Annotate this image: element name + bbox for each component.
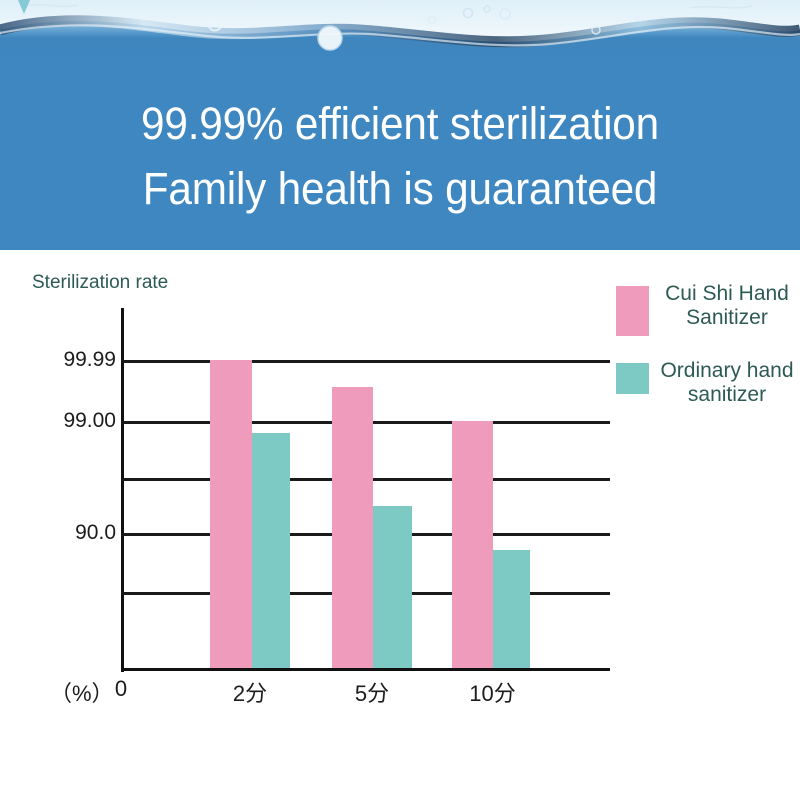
bar-ordinary-10min[interactable] [493, 550, 530, 670]
x-tick-label-2min: 2分 [210, 676, 290, 708]
x-tick-origin: 0 [106, 676, 136, 702]
sterilization-rate-chart: Sterilization rate 99.99 99.00 90.0 [0, 250, 800, 800]
x-axis-line [121, 668, 610, 671]
legend-label-ordinary-line1: Ordinary hand [660, 359, 793, 382]
bar-cui-shi-2min[interactable] [210, 360, 252, 670]
x-tick-label-10min: 10分 [450, 676, 535, 708]
chart-legend: Cui Shi Hand Sanitizer Ordinary hand san… [616, 282, 800, 434]
legend-swatch-teal [616, 363, 649, 394]
legend-label-cui-shi: Cui Shi Hand Sanitizer [658, 282, 796, 329]
hero-banner: 99.99% efficient sterilization Family he… [0, 0, 800, 250]
legend-label-ordinary: Ordinary hand sanitizer [658, 359, 796, 406]
water-wave-graphic [0, 0, 800, 62]
legend-item-ordinary[interactable]: Ordinary hand sanitizer [616, 359, 800, 406]
legend-swatch-pink [616, 286, 649, 336]
legend-item-cui-shi[interactable]: Cui Shi Hand Sanitizer [616, 282, 800, 329]
legend-label-cui-shi-line1: Cui Shi Hand [665, 282, 789, 305]
legend-label-ordinary-line2: sanitizer [688, 383, 766, 406]
bar-cui-shi-10min[interactable] [452, 421, 493, 670]
product-infographic-page: 99.99% efficient sterilization Family he… [0, 0, 800, 800]
x-axis-unit-label: （%） [50, 676, 114, 708]
bar-ordinary-2min[interactable] [252, 433, 290, 670]
headline-secondary: Family health is guaranteed [24, 163, 776, 215]
bar-cui-shi-5min[interactable] [332, 387, 373, 670]
water-surface-image [0, 0, 800, 62]
x-tick-label-5min: 5分 [332, 676, 412, 708]
bar-ordinary-5min[interactable] [373, 506, 412, 670]
headline-primary: 99.99% efficient sterilization [24, 98, 776, 150]
legend-label-cui-shi-line2: Sanitizer [686, 306, 768, 329]
